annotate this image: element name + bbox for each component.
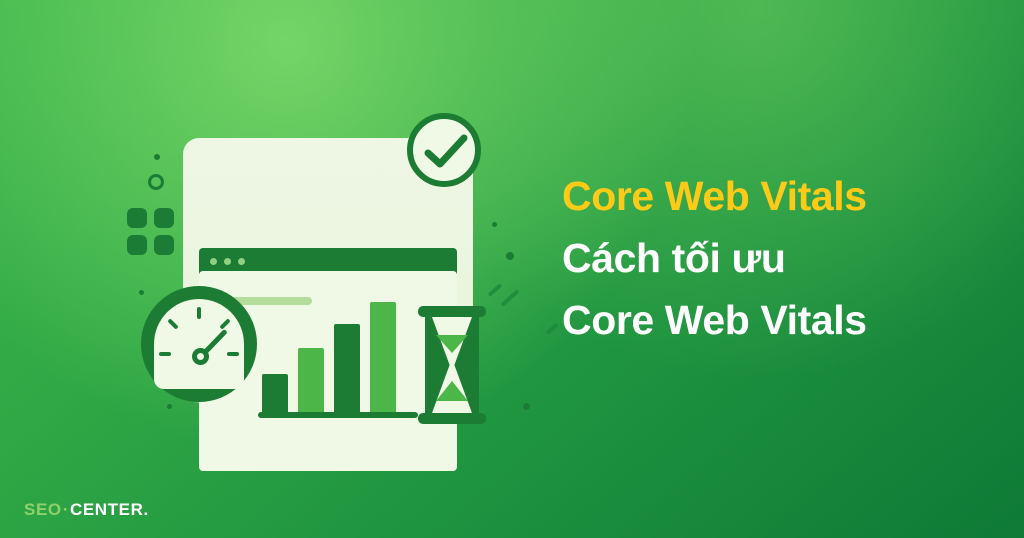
- hourglass-top-cap: [418, 306, 486, 317]
- window-dot-icon: [210, 258, 217, 265]
- logo-center-text: CENTER.: [70, 500, 149, 519]
- hourglass-bottom-cap: [418, 413, 486, 424]
- check-badge: [407, 113, 481, 187]
- banner-root: Core Web Vitals Cách tối ưu Core Web Vit…: [0, 0, 1024, 538]
- hourglass: [418, 306, 486, 424]
- gauge-tick: [167, 318, 178, 329]
- decor-dash-3: [545, 323, 558, 335]
- gauge-tick: [219, 318, 230, 329]
- window-dot-icon: [224, 258, 231, 265]
- chart-bar: [298, 348, 324, 412]
- chart-bar: [370, 302, 396, 412]
- speedometer-gauge: [141, 286, 257, 402]
- headline-line-2: Cách tối ưu: [562, 238, 992, 279]
- chart-bar: [262, 374, 288, 412]
- bar-chart: [258, 298, 418, 418]
- gauge-tick: [159, 352, 171, 356]
- gauge-face: [154, 299, 244, 389]
- chart-baseline: [258, 412, 418, 418]
- illustration: [118, 108, 528, 428]
- hourglass-sand-top: [436, 335, 468, 353]
- headline-line-3: Core Web Vitals: [562, 300, 992, 341]
- logo-seo-text: SEO: [24, 500, 62, 519]
- logo-separator: ·: [62, 500, 70, 519]
- check-icon: [424, 133, 468, 173]
- gauge-tick: [227, 352, 239, 356]
- hourglass-frame: [425, 317, 479, 413]
- window-dot-icon: [238, 258, 245, 265]
- headline-block: Core Web Vitals Cách tối ưu Core Web Vit…: [562, 176, 992, 341]
- headline-line-1: Core Web Vitals: [562, 176, 992, 217]
- chart-bar: [334, 324, 360, 412]
- gauge-hub: [192, 348, 209, 365]
- gauge-tick: [197, 307, 201, 319]
- logo[interactable]: SEO·CENTER.: [24, 500, 149, 520]
